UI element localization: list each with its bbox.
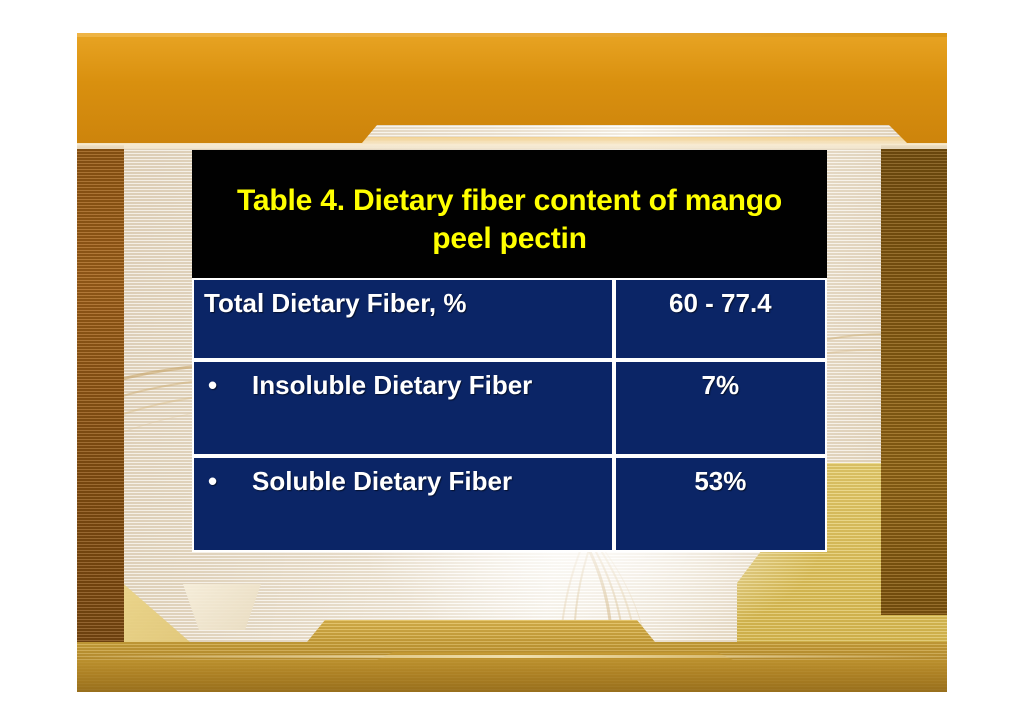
decorative-stripe-left [77, 145, 124, 692]
dietary-fiber-table: Total Dietary Fiber, % 60 - 77.4 • Insol… [192, 278, 827, 552]
table-block: Table 4. Dietary fiber content of mango … [192, 150, 827, 586]
table-row: • Soluble Dietary Fiber 53% [192, 456, 827, 552]
table-title-line-2: peel pectin [432, 222, 587, 255]
decorative-band-sheen [77, 655, 947, 658]
table-title-line-1: Table 4. Dietary fiber content of mango [237, 184, 782, 217]
row-value-insoluble: 7% [702, 370, 740, 400]
header-banner-highlight [77, 33, 947, 37]
table-cell-value: 7% [614, 360, 827, 456]
row-label-soluble: Soluble Dietary Fiber [252, 466, 602, 497]
table-cell-label: Total Dietary Fiber, % [192, 278, 614, 360]
row-value-soluble: 53% [694, 466, 746, 496]
table-row: Total Dietary Fiber, % 60 - 77.4 [192, 278, 827, 360]
table-cell-value: 53% [614, 456, 827, 552]
table-row: • Insoluble Dietary Fiber 7% [192, 360, 827, 456]
bullet-icon: • [204, 370, 252, 401]
table-cell-label: • Soluble Dietary Fiber [192, 456, 614, 552]
table-cell-label: • Insoluble Dietary Fiber [192, 360, 614, 456]
row-label-total: Total Dietary Fiber, % [204, 288, 466, 318]
row-label-insoluble: Insoluble Dietary Fiber [252, 370, 602, 401]
bullet-icon: • [204, 466, 252, 497]
decorative-stripe-right [881, 145, 947, 615]
slide-canvas: Table 4. Dietary fiber content of mango … [77, 33, 947, 692]
table-cell-value: 60 - 77.4 [614, 278, 827, 360]
row-value-total: 60 - 77.4 [669, 288, 772, 318]
table-title: Table 4. Dietary fiber content of mango … [192, 150, 827, 278]
